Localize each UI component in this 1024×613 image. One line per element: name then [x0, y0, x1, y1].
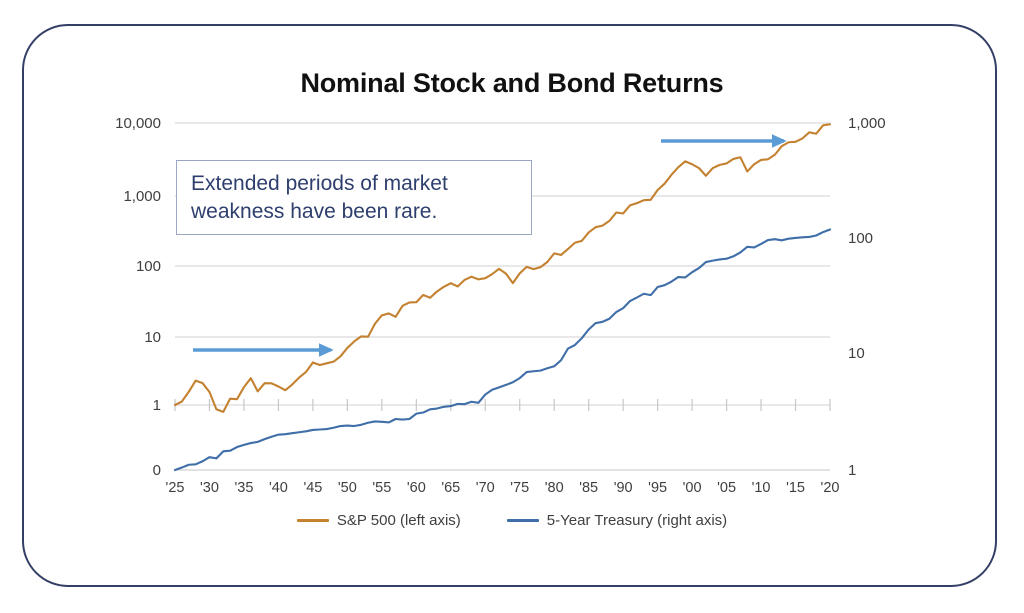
left-axis-tick-label: 0	[153, 462, 161, 479]
x-axis-tick-label: '00	[683, 480, 702, 496]
slide-canvas: Nominal Stock and Bond Returns 10,0001,0…	[0, 0, 1024, 613]
x-axis-tick-label: '60	[407, 480, 426, 496]
legend-swatch-treasury	[507, 519, 539, 522]
x-axis-tick-label: '40	[269, 480, 288, 496]
legend-item-treasury[interactable]: 5-Year Treasury (right axis)	[507, 512, 727, 529]
chart-legend: S&P 500 (left axis) 5-Year Treasury (rig…	[0, 512, 1024, 529]
x-axis-tick-label: '80	[545, 480, 564, 496]
callout-text: Extended periods of market weakness have…	[191, 170, 517, 226]
x-axis-tick-label: '75	[510, 480, 529, 496]
left-axis-tick-label: 1,000	[123, 188, 161, 205]
x-axis-tick-label: '95	[648, 480, 667, 496]
left-axis-tick-label: 1	[153, 397, 161, 414]
x-axis-tick-label: '10	[752, 480, 771, 496]
x-axis-tick-label: '20	[821, 480, 840, 496]
x-axis-tick-label: '85	[579, 480, 598, 496]
legend-item-sp500[interactable]: S&P 500 (left axis)	[297, 512, 461, 529]
left-axis-tick-label: 10	[144, 329, 161, 346]
x-axis-tick-label: '90	[614, 480, 633, 496]
x-axis-tick-label: '05	[717, 480, 736, 496]
callout-textbox: Extended periods of market weakness have…	[176, 160, 532, 235]
x-axis-tick-label: '65	[441, 480, 460, 496]
x-axis-tick-label: '70	[476, 480, 495, 496]
x-axis-tick-label: '35	[234, 480, 253, 496]
right-axis-tick-label: 1	[848, 462, 856, 479]
right-axis-tick-label: 1,000	[848, 115, 886, 132]
legend-label-treasury: 5-Year Treasury (right axis)	[547, 512, 727, 529]
x-axis-tick-label: '25	[166, 480, 185, 496]
right-axis-tick-label: 10	[848, 345, 865, 362]
legend-label-sp500: S&P 500 (left axis)	[337, 512, 461, 529]
left-axis-tick-label: 100	[136, 258, 161, 275]
x-axis-tick-label: '45	[303, 480, 322, 496]
left-axis-tick-label: 10,000	[115, 115, 161, 132]
x-axis-tick-label: '15	[786, 480, 805, 496]
x-axis-tick-label: '30	[200, 480, 219, 496]
x-axis-tick-label: '55	[372, 480, 391, 496]
x-axis-tick-label: '50	[338, 480, 357, 496]
legend-swatch-sp500	[297, 519, 329, 522]
right-axis-tick-label: 100	[848, 230, 873, 247]
